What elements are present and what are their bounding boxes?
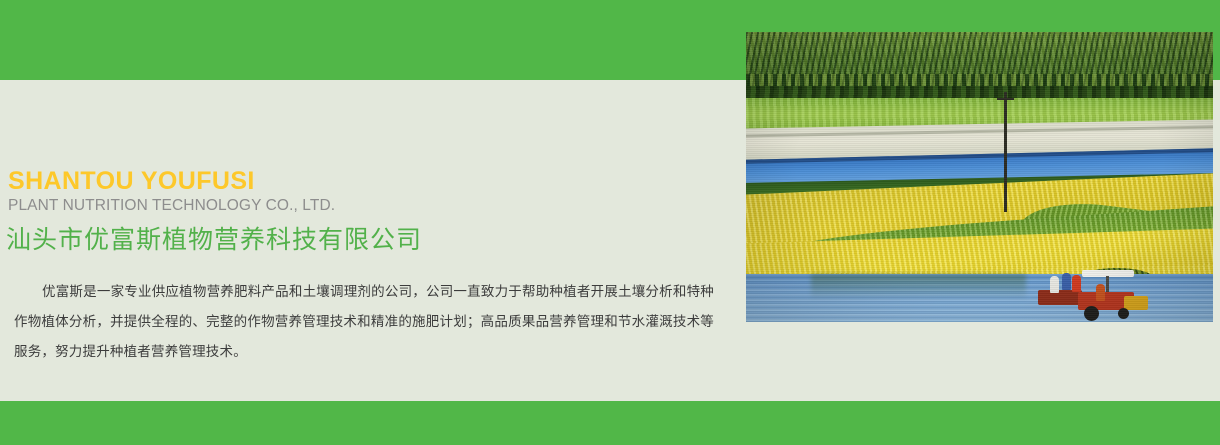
harvester-trailer — [1038, 290, 1082, 305]
harvester-hopper — [1124, 296, 1148, 310]
hero-farmland-photo — [746, 32, 1213, 322]
harvester-wheel — [1084, 306, 1099, 321]
company-info-column: SHANTOU YOUFUSI PLANT NUTRITION TECHNOLO… — [0, 80, 746, 401]
harvester-post — [1106, 276, 1109, 292]
company-introduction-paragraph: 优富斯是一家专业供应植物营养肥料产品和土壤调理剂的公司，公司一直致力于帮助种植者… — [14, 277, 714, 367]
harvester-wheel — [1118, 308, 1129, 319]
bottom-green-banner — [0, 401, 1220, 445]
harvester-machine — [1038, 270, 1150, 318]
farm-worker — [1050, 276, 1059, 293]
farm-worker — [1096, 284, 1105, 301]
farm-worker — [1072, 275, 1081, 292]
company-tagline-english: PLANT NUTRITION TECHNOLOGY CO., LTD. — [8, 197, 335, 215]
photo-scene — [746, 32, 1213, 322]
distant-tree-line — [746, 32, 1213, 90]
utility-pole — [1004, 92, 1007, 212]
company-name-english: SHANTOU YOUFUSI — [8, 167, 255, 196]
company-name-chinese: 汕头市优富斯植物营养科技有限公司 — [6, 220, 422, 256]
farm-worker — [1062, 273, 1071, 290]
